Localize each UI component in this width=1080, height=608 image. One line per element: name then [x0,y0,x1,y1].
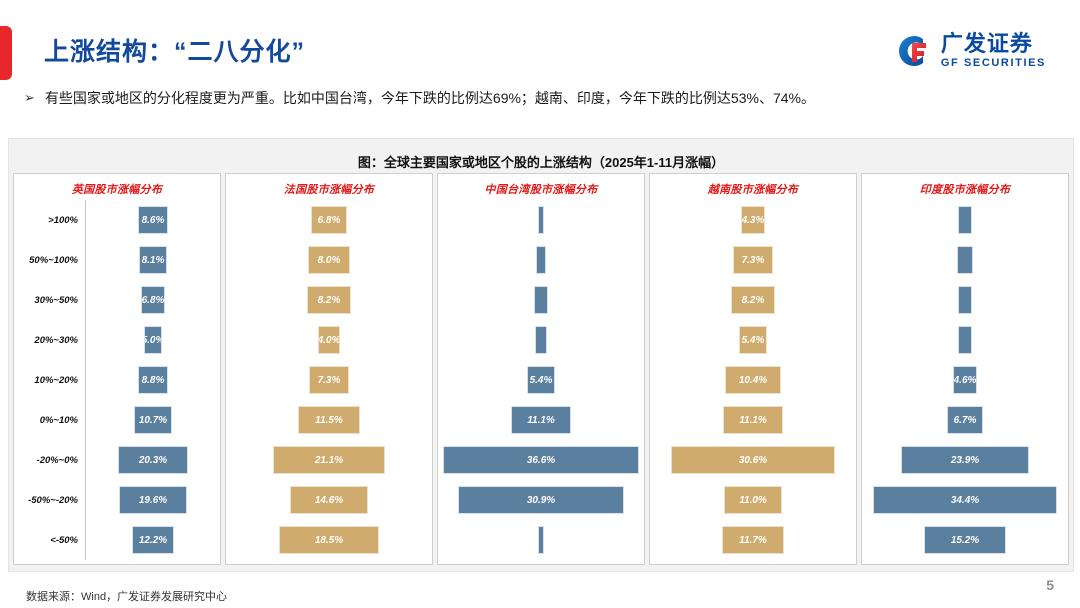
chart-panel-title: 法国股市涨幅分布 [226,174,432,197]
bar [957,246,973,274]
chart-panel-title: 中国台湾股市涨幅分布 [438,174,644,197]
bar-row: 4.6% [862,360,1068,400]
bar-row [862,200,1068,240]
bar-row: 36.6% [438,440,644,480]
bar-row [862,280,1068,320]
bar-value-label: 10.4% [739,375,767,386]
bar-row: 8.2% [226,280,432,320]
chart-plot-area: 5.4%11.1%36.6%30.9% [438,200,644,560]
bar-value-label: 8.2% [318,295,341,306]
bar-value-label: 4.3% [742,215,765,226]
bar-value-label: 11.7% [739,535,767,546]
bar: 15.2% [924,526,1005,554]
bar: 7.3% [733,246,772,274]
bar: 8.2% [731,286,775,314]
bar-value-label: 15.2% [951,535,979,546]
chart-panel-1: 英国股市涨幅分布>100%50%~100%30%~50%20%~30%10%~2… [13,173,221,565]
bar: 18.5% [279,526,378,554]
chart-panel-2: 法国股市涨幅分布6.8%8.0%8.2%4.0%7.3%11.5%21.1%14… [225,173,433,565]
bar: 7.3% [309,366,348,394]
bar-value-label: 4.6% [954,375,977,386]
bar-row: 8.6% [86,200,220,240]
page-number: 5 [1046,577,1054,593]
bar-row: 6.8% [226,200,432,240]
bar-row: 5.4% [650,320,856,360]
bar-row: 4.0% [226,320,432,360]
brand-text: 广发证券 GF SECURITIES [941,33,1046,69]
brand-name-en: GF SECURITIES [941,58,1046,69]
bar [535,326,546,354]
bar: 6.8% [311,206,347,234]
bar-value-label: 30.9% [527,495,555,506]
bar: 23.9% [901,446,1029,474]
bar-row [438,240,644,280]
bar: 11.0% [724,486,783,514]
figure-title: 图：全球主要国家或地区个股的上涨结构（2025年1-11月涨幅） [9,139,1073,171]
bar-row: 11.0% [650,480,856,520]
bar-value-label: 21.1% [315,455,343,466]
bar: 4.6% [953,366,978,394]
category-axis-label: -20%~0% [14,440,85,480]
category-axis-label: <-50% [14,520,85,560]
chart-panel-5: 印度股市涨幅分布4.6%6.7%23.9%34.4%15.2% [861,173,1069,565]
category-axis-label: >100% [14,200,85,240]
header-accent-bar [0,26,12,80]
bar: 34.4% [873,486,1057,514]
bar-row: 21.1% [226,440,432,480]
bar-row [438,280,644,320]
bar-row: 30.6% [650,440,856,480]
bar-value-label: 8.2% [742,295,765,306]
bullet-row: ➢ 有些国家或地区的分化程度更为严重。比如中国台湾，今年下跌的比例达69%；越南… [24,88,1064,108]
bar-value-label: 7.3% [742,255,765,266]
chart-panel-4: 越南股市涨幅分布4.3%7.3%8.2%5.4%10.4%11.1%30.6%1… [649,173,857,565]
bar-row: 6.7% [862,400,1068,440]
bar-row: 7.3% [226,360,432,400]
bar: 8.6% [138,206,168,234]
bar: 5.4% [527,366,556,394]
bar-row: 30.9% [438,480,644,520]
bar-value-label: 19.6% [139,495,167,506]
chart-plot-area: 4.3%7.3%8.2%5.4%10.4%11.1%30.6%11.0%11.7… [650,200,856,560]
chart-panel-title: 越南股市涨幅分布 [650,174,856,197]
bars-container: 4.6%6.7%23.9%34.4%15.2% [862,200,1068,560]
bar-value-label: 6.8% [318,215,341,226]
bar [536,246,547,274]
bar: 6.7% [947,406,983,434]
chart-plot-area: 6.8%8.0%8.2%4.0%7.3%11.5%21.1%14.6%18.5% [226,200,432,560]
bar-value-label: 18.5% [315,535,343,546]
bar: 8.8% [138,366,169,394]
bar-row: 8.0% [226,240,432,280]
chart-panel-title: 英国股市涨幅分布 [14,174,220,197]
chart-plot-area: >100%50%~100%30%~50%20%~30%10%~20%0%~10%… [14,200,220,560]
bar: 5.4% [739,326,768,354]
bar: 19.6% [119,486,188,514]
bar-value-label: 23.9% [951,455,979,466]
bar-row: 8.2% [650,280,856,320]
bar-value-label: 30.6% [739,455,767,466]
bar-value-label: 7.3% [318,375,341,386]
category-axis-label: 20%~30% [14,320,85,360]
bar-row: 8.1% [86,240,220,280]
bar-value-label: 4.0% [318,335,339,346]
bar: 8.0% [308,246,351,274]
category-axis: >100%50%~100%30%~50%20%~30%10%~20%0%~10%… [14,200,86,560]
bar: 11.7% [722,526,785,554]
bar-row: 14.6% [226,480,432,520]
bar-row: 6.8% [86,280,220,320]
bar-row: 5.4% [438,360,644,400]
bar-value-label: 11.1% [739,415,767,426]
bar: 10.7% [134,406,171,434]
chart-panel-title: 印度股市涨幅分布 [862,174,1068,197]
brand-logo: 广发证券 GF SECURITIES [891,30,1046,72]
bar: 11.5% [298,406,360,434]
figure-block: 图：全球主要国家或地区个股的上涨结构（2025年1-11月涨幅） 英国股市涨幅分… [8,138,1074,572]
bar-row: 15.2% [862,520,1068,560]
bar-row: 11.7% [650,520,856,560]
gf-logo-icon [891,30,933,72]
bar-value-label: 11.1% [527,415,555,426]
bar-value-label: 8.8% [142,375,165,386]
bar-value-label: 12.2% [139,535,167,546]
bar: 30.6% [671,446,835,474]
bar-row: 8.8% [86,360,220,400]
category-axis-label: 50%~100% [14,240,85,280]
bullet-text: 有些国家或地区的分化程度更为严重。比如中国台湾，今年下跌的比例达69%；越南、印… [45,88,815,108]
bar: 14.6% [290,486,368,514]
bar-value-label: 6.8% [142,295,165,306]
bar-row: 19.6% [86,480,220,520]
bar-row [438,320,644,360]
bar: 8.2% [307,286,351,314]
bar-value-label: 11.5% [315,415,343,426]
bar: 4.3% [741,206,764,234]
bar-row: 18.5% [226,520,432,560]
bar-row [438,520,644,560]
bar-value-label: 5.4% [742,335,765,346]
bar-row: 10.4% [650,360,856,400]
bar-row: 20.3% [86,440,220,480]
bar: 30.9% [458,486,623,514]
bar-row: 12.2% [86,520,220,560]
bar-row: 7.3% [650,240,856,280]
bar-row: 11.1% [438,400,644,440]
bar-value-label: 6.7% [954,415,977,426]
bar-row: 11.1% [650,400,856,440]
bar-value-label: 10.7% [139,415,167,426]
bar: 5.0% [144,326,161,354]
bar [538,526,544,554]
bar: 8.1% [139,246,167,274]
bar: 20.3% [118,446,189,474]
bar [958,206,972,234]
page-title: 上涨结构：“二八分化” [44,32,305,68]
bar-value-label: 8.6% [142,215,165,226]
bar-value-label: 5.4% [530,375,553,386]
bars-container: 8.6%8.1%6.8%5.0%8.8%10.7%20.3%19.6%12.2% [86,200,220,560]
bar-row [862,240,1068,280]
bar-row: 34.4% [862,480,1068,520]
bar [538,206,545,234]
bar-row: 4.3% [650,200,856,240]
bar: 21.1% [273,446,386,474]
bar-value-label: 34.4% [951,495,979,506]
bar-row: 10.7% [86,400,220,440]
bars-container: 5.4%11.1%36.6%30.9% [438,200,644,560]
bar-row [438,200,644,240]
bar-row: 23.9% [862,440,1068,480]
brand-name-cn: 广发证券 [941,33,1046,55]
bar: 36.6% [443,446,639,474]
bar: 11.1% [511,406,570,434]
bar [534,286,548,314]
bar: 11.1% [723,406,782,434]
category-axis-label: -50%~-20% [14,480,85,520]
bar-value-label: 5.0% [144,335,161,346]
bar-value-label: 14.6% [315,495,343,506]
bar-row: 5.0% [86,320,220,360]
bar-value-label: 36.6% [527,455,555,466]
bar: 10.4% [725,366,781,394]
chart-plot-area: 4.6%6.7%23.9%34.4%15.2% [862,200,1068,560]
bar-value-label: 20.3% [139,455,167,466]
category-axis-label: 0%~10% [14,400,85,440]
bar-value-label: 11.0% [739,495,767,506]
chart-panels: 英国股市涨幅分布>100%50%~100%30%~50%20%~30%10%~2… [13,173,1069,565]
chart-panel-3: 中国台湾股市涨幅分布5.4%11.1%36.6%30.9% [437,173,645,565]
category-axis-label: 30%~50% [14,280,85,320]
bars-container: 6.8%8.0%8.2%4.0%7.3%11.5%21.1%14.6%18.5% [226,200,432,560]
bar: 12.2% [132,526,175,554]
bar-row [862,320,1068,360]
bar: 4.0% [318,326,339,354]
bar [958,326,973,354]
source-note: 数据来源：Wind，广发证券发展研究中心 [26,588,227,604]
bullet-arrow-icon: ➢ [24,88,35,108]
bar: 6.8% [141,286,165,314]
bar-value-label: 8.1% [142,255,165,266]
bar-row: 11.5% [226,400,432,440]
category-axis-label: 10%~20% [14,360,85,400]
bar-value-label: 8.0% [318,255,341,266]
bar [958,286,972,314]
bars-container: 4.3%7.3%8.2%5.4%10.4%11.1%30.6%11.0%11.7… [650,200,856,560]
